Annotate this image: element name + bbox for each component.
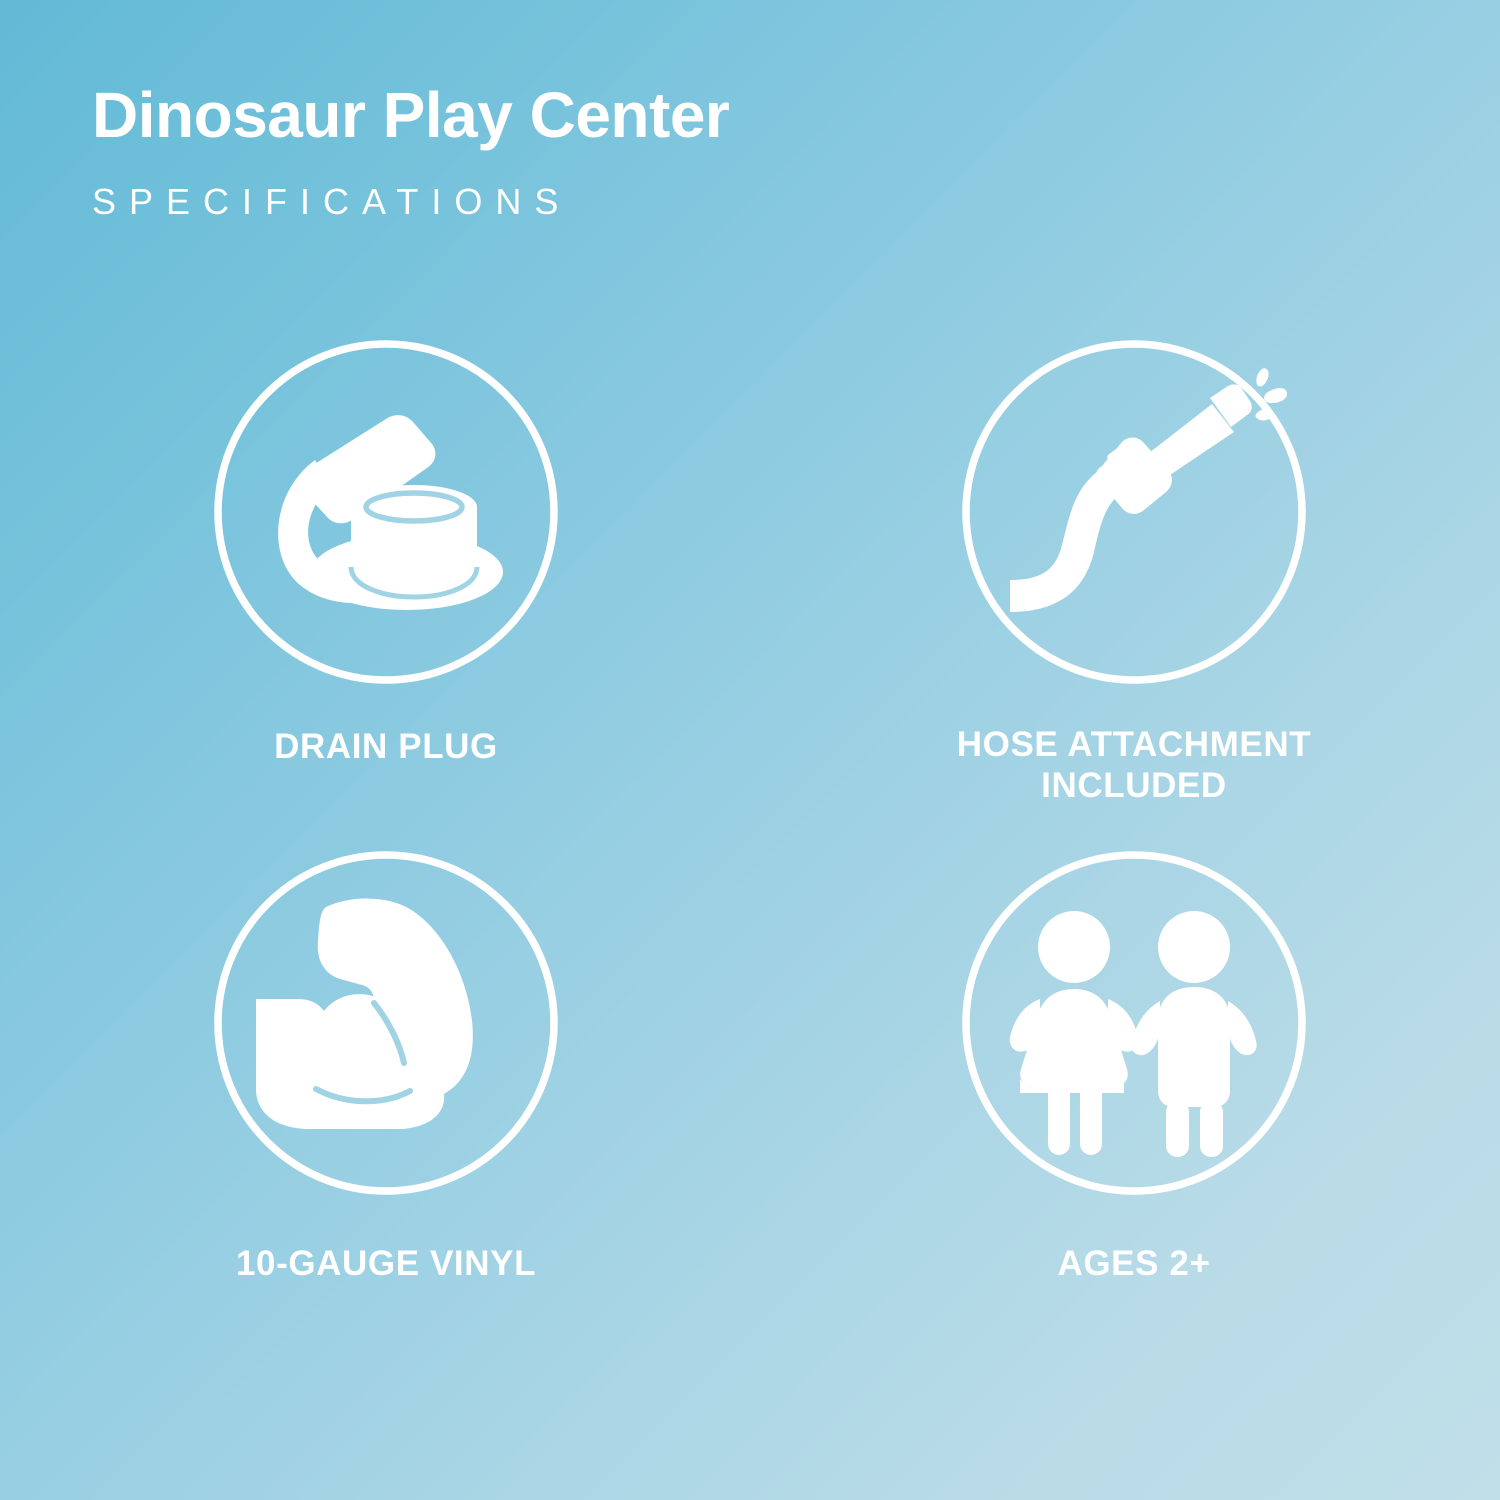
spec-item-drain-plug: DRAIN PLUG	[0, 340, 750, 807]
spec-label-hose-attachment: HOSE ATTACHMENT INCLUDED	[899, 724, 1369, 807]
flexed-bicep-icon	[214, 851, 558, 1195]
spec-label-vinyl-gauge: 10-GAUGE VINYL	[236, 1243, 536, 1284]
specifications-grid: DRAIN PLUG HOSE ATTACHMENT INCLUDED	[0, 340, 1500, 1284]
page-title: Dinosaur Play Center	[92, 82, 1392, 149]
two-children-icon	[962, 851, 1306, 1195]
page-subtitle: SPECIFICATIONS	[92, 181, 1392, 223]
spec-item-age-rating: AGES 2+	[750, 851, 1500, 1284]
drain-plug-icon	[214, 340, 558, 684]
spec-label-drain-plug: DRAIN PLUG	[274, 726, 498, 767]
spec-label-age-rating: AGES 2+	[1057, 1243, 1210, 1284]
spec-item-vinyl-gauge: 10-GAUGE VINYL	[0, 851, 750, 1284]
hose-nozzle-icon	[962, 340, 1306, 684]
spec-item-hose-attachment: HOSE ATTACHMENT INCLUDED	[750, 340, 1500, 807]
header: Dinosaur Play Center SPECIFICATIONS	[92, 82, 1392, 223]
